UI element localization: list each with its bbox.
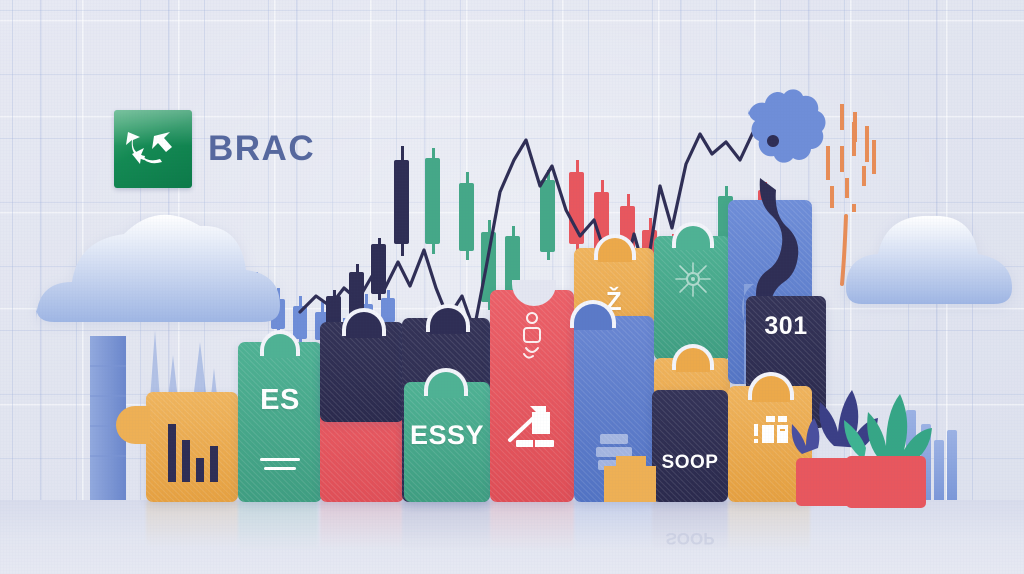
illustration-scene: BRAC SOOP ES xyxy=(0,0,1024,574)
grain-overlay xyxy=(0,0,1024,574)
